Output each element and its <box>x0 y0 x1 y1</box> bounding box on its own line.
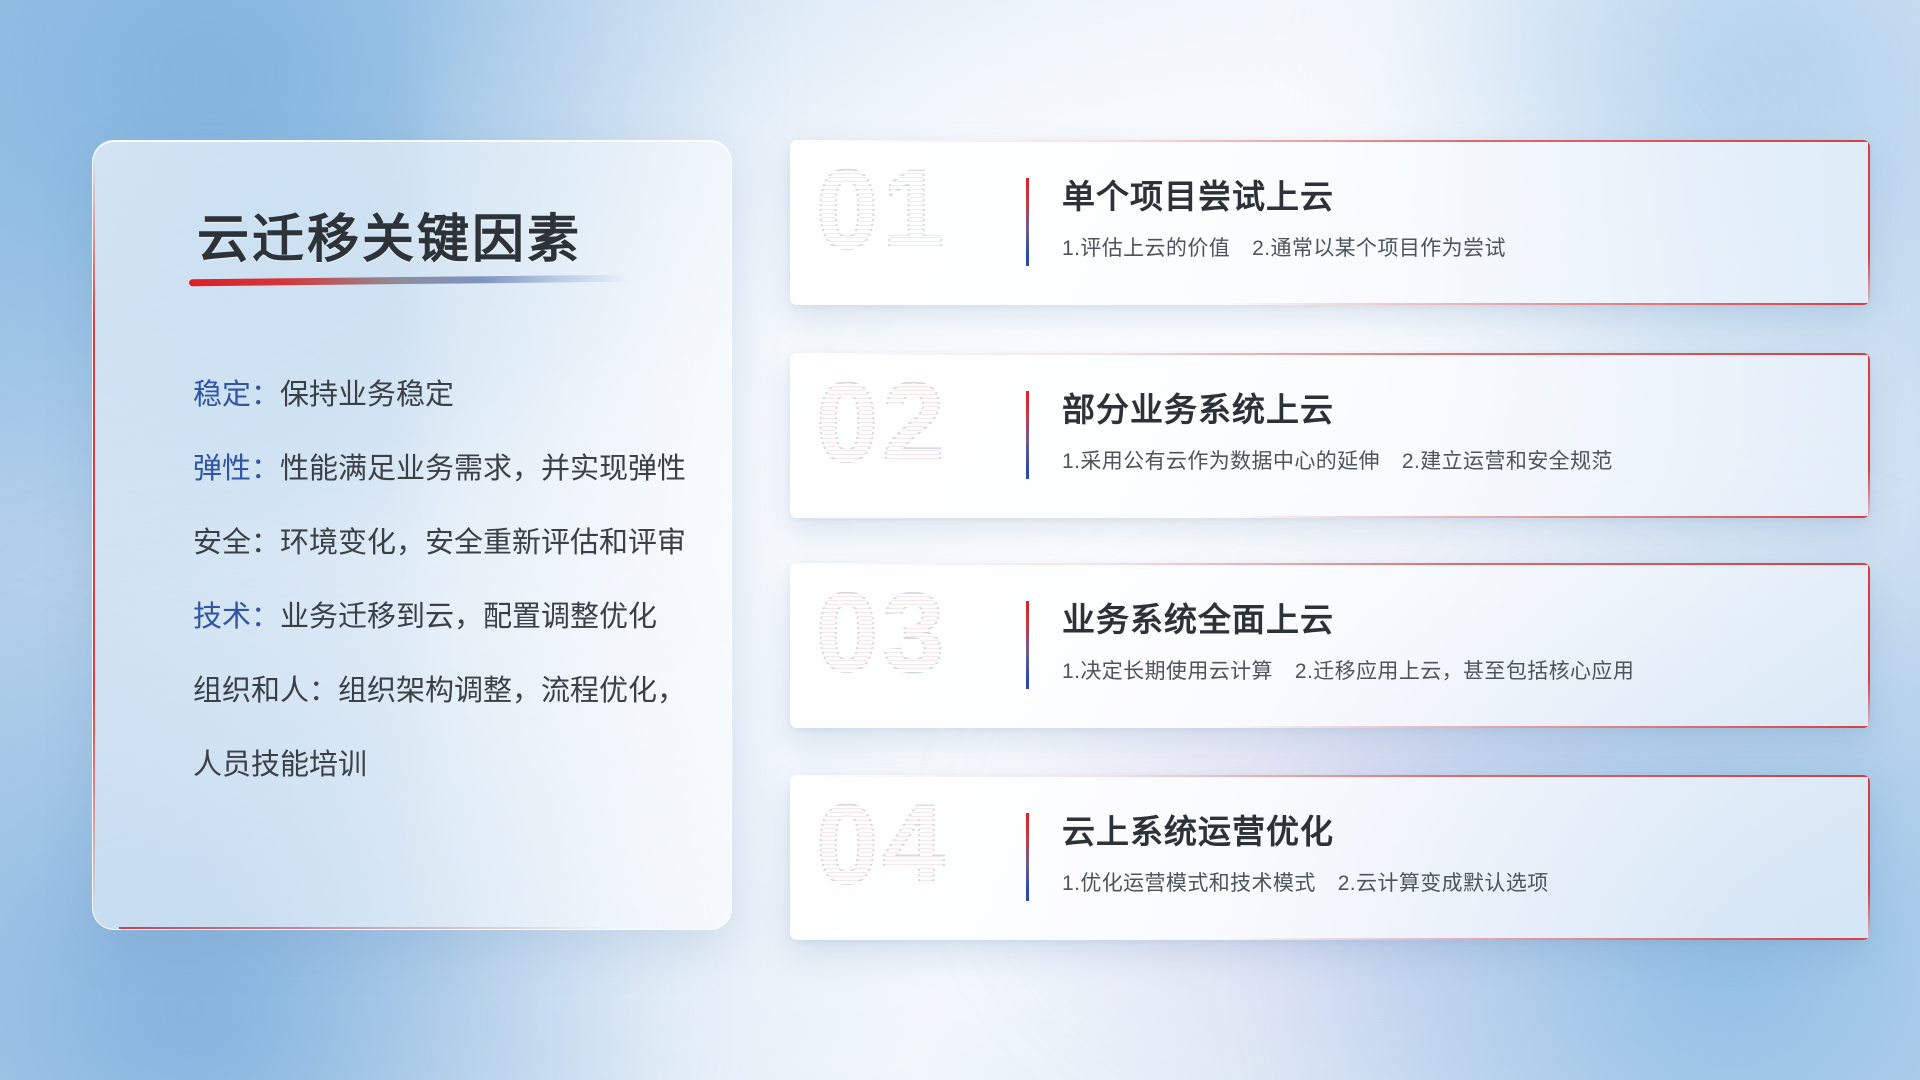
card-right-accent-01 <box>1868 140 1870 305</box>
card-top-accent-01 <box>790 140 1870 142</box>
step-divider-01 <box>1026 178 1029 266</box>
title-underline-gradient <box>189 275 629 287</box>
step-title-02: 部分业务系统上云 <box>1062 383 1334 431</box>
card-left-edge-03 <box>790 563 792 728</box>
card-top-accent-04 <box>790 775 1870 777</box>
step-desc-item-1-02: 1.采用公有云作为数据中心的延伸 <box>1062 450 1380 473</box>
card-bottom-accent-01 <box>1222 303 1870 305</box>
card-right-accent-02 <box>1868 353 1870 518</box>
factor-text-security: 环境变化，安全重新评估和评审 <box>280 527 686 559</box>
factor-label-organization: 组织和人： <box>193 675 338 707</box>
factor-label-stability: 稳定： <box>193 379 280 411</box>
step-card-03[interactable]: 03 03 业务系统全面上云 1.决定长期使用云计算2.迁移应用上云，甚至包括核… <box>790 563 1870 728</box>
step-divider-03 <box>1026 601 1029 689</box>
panel-bottom-accent-bar <box>119 927 611 929</box>
step-desc-item-1-03: 1.决定长期使用云计算 <box>1062 660 1273 683</box>
factor-row-stability: 稳定：保持业务稳定 <box>193 381 691 410</box>
step-desc-item-2-02: 2.建立运营和安全规范 <box>1402 450 1613 473</box>
step-description-04: 1.优化运营模式和技术模式2.云计算变成默认选项 <box>1062 867 1549 897</box>
slide-stage: 云迁移关键因素 稳定：保持业务稳定 弹性：性能满足业务需求，并实现弹性 安全：环… <box>0 0 1920 1080</box>
step-title-04: 云上系统运营优化 <box>1062 805 1334 853</box>
card-bottom-accent-04 <box>1222 938 1870 940</box>
step-title-01: 单个项目尝试上云 <box>1062 170 1334 218</box>
step-desc-item-2-01: 2.通常以某个项目作为尝试 <box>1252 237 1506 260</box>
factor-text-stability: 保持业务稳定 <box>280 379 454 411</box>
step-desc-item-1-01: 1.评估上云的价值 <box>1062 237 1230 260</box>
key-factors-panel: 云迁移关键因素 稳定：保持业务稳定 弹性：性能满足业务需求，并实现弹性 安全：环… <box>92 140 732 930</box>
factor-text-elasticity: 性能满足业务需求，并实现弹性 <box>280 453 686 485</box>
step-divider-02 <box>1026 391 1029 479</box>
card-left-edge-01 <box>790 140 792 305</box>
step-title-03: 业务系统全面上云 <box>1062 593 1334 641</box>
step-desc-item-2-03: 2.迁移应用上云，甚至包括核心应用 <box>1295 660 1634 683</box>
card-right-accent-03 <box>1868 563 1870 728</box>
page-title: 云迁移关键因素 <box>197 197 582 272</box>
card-left-edge-02 <box>790 353 792 518</box>
factor-text-technology: 业务迁移到云，配置调整优化 <box>280 601 657 633</box>
factor-text-organization: 组织架构调整，流程优化， <box>338 675 686 707</box>
step-number-04: 04 <box>816 789 949 901</box>
step-description-01: 1.评估上云的价值2.通常以某个项目作为尝试 <box>1062 232 1506 262</box>
factor-label-security: 安全： <box>193 527 280 559</box>
step-description-03: 1.决定长期使用云计算2.迁移应用上云，甚至包括核心应用 <box>1062 655 1634 685</box>
step-card-01[interactable]: 01 01 单个项目尝试上云 1.评估上云的价值2.通常以某个项目作为尝试 <box>790 140 1870 305</box>
factor-list: 稳定：保持业务稳定 弹性：性能满足业务需求，并实现弹性 安全：环境变化，安全重新… <box>193 381 691 780</box>
card-top-accent-02 <box>790 353 1870 355</box>
step-description-02: 1.采用公有云作为数据中心的延伸2.建立运营和安全规范 <box>1062 445 1613 475</box>
card-bottom-accent-02 <box>1222 516 1870 518</box>
step-number-01: 01 <box>816 154 949 266</box>
step-card-04[interactable]: 04 04 云上系统运营优化 1.优化运营模式和技术模式2.云计算变成默认选项 <box>790 775 1870 940</box>
step-desc-item-1-04: 1.优化运营模式和技术模式 <box>1062 872 1316 895</box>
factor-row-organization: 组织和人：组织架构调整，流程优化， <box>193 677 691 706</box>
card-left-edge-04 <box>790 775 792 940</box>
factor-row-security: 安全：环境变化，安全重新评估和评审 <box>193 529 691 558</box>
step-number-03: 03 <box>816 577 949 689</box>
step-number-02: 02 <box>816 367 949 479</box>
step-card-02[interactable]: 02 02 部分业务系统上云 1.采用公有云作为数据中心的延伸2.建立运营和安全… <box>790 353 1870 518</box>
step-divider-04 <box>1026 813 1029 901</box>
card-top-accent-03 <box>790 563 1870 565</box>
card-bottom-accent-03 <box>1222 726 1870 728</box>
factor-row-organization-continued: 人员技能培训 <box>193 751 691 780</box>
step-desc-item-2-04: 2.云计算变成默认选项 <box>1338 872 1549 895</box>
factor-label-technology: 技术： <box>193 601 280 633</box>
panel-left-accent-bar <box>93 157 95 913</box>
factor-row-technology: 技术：业务迁移到云，配置调整优化 <box>193 603 691 632</box>
factor-row-elasticity: 弹性：性能满足业务需求，并实现弹性 <box>193 455 691 484</box>
card-right-accent-04 <box>1868 775 1870 940</box>
factor-text-organization-continued: 人员技能培训 <box>193 749 367 781</box>
factor-label-elasticity: 弹性： <box>193 453 280 485</box>
